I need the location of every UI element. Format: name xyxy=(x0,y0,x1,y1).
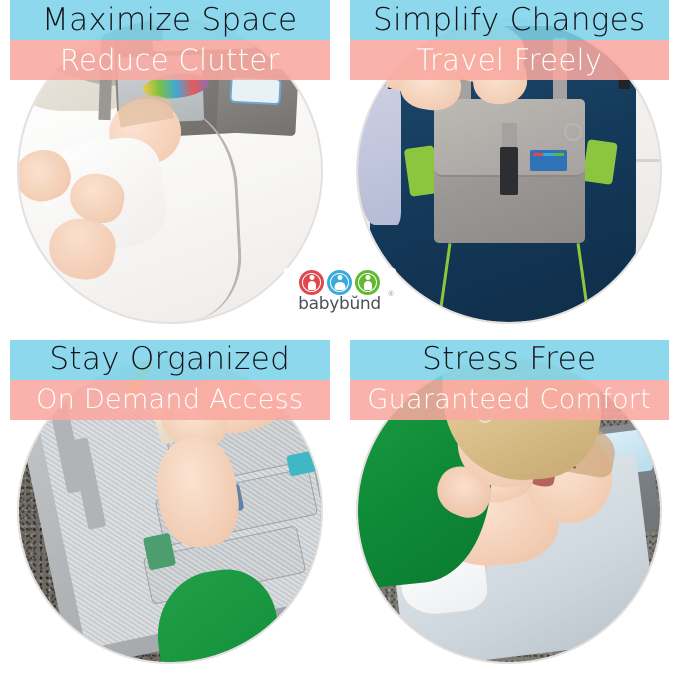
caption-stack-stay-organized: Stay Organized On Demand Access xyxy=(10,340,330,420)
panel-subline: Travel Freely xyxy=(416,46,602,75)
headline-band: Maximize Space xyxy=(10,0,330,40)
subline-band: Reduce Clutter xyxy=(10,40,330,80)
subline-band: Guaranteed Comfort xyxy=(350,380,670,420)
brand-wordmark: babybŭnd xyxy=(298,296,381,313)
panel-headline: Stay Organized xyxy=(49,344,290,375)
caption-stack-maximize-space: Maximize Space Reduce Clutter xyxy=(10,0,330,80)
product-feature-collage: Maximize Space Reduce Clutter xyxy=(0,0,679,679)
brand-logo-marks xyxy=(288,270,392,295)
headline-band: Simplify Changes xyxy=(350,0,670,40)
panel-headline: Simplify Changes xyxy=(373,5,646,36)
logo-mark-blue-icon xyxy=(327,270,352,295)
panel-headline: Maximize Space xyxy=(42,5,297,36)
panel-subline: Reduce Clutter xyxy=(60,46,280,75)
brand-logo: babybŭnd ® xyxy=(284,268,396,315)
headline-band: Stress Free xyxy=(350,340,670,380)
logo-mark-red-icon xyxy=(299,270,324,295)
panel-stress-free: Stress Free Guaranteed Comfort xyxy=(340,340,679,679)
subline-band: Travel Freely xyxy=(350,40,670,80)
panel-subline: Guaranteed Comfort xyxy=(367,386,651,413)
caption-stack-stress-free: Stress Free Guaranteed Comfort xyxy=(350,340,670,420)
subline-band: On Demand Access xyxy=(10,380,330,420)
caption-stack-simplify-changes: Simplify Changes Travel Freely xyxy=(350,0,670,80)
panel-headline: Stress Free xyxy=(422,344,596,375)
registered-trademark-symbol: ® xyxy=(388,291,393,298)
panel-stay-organized: Stay Organized On Demand Access xyxy=(0,340,340,679)
logo-mark-green-icon xyxy=(355,270,380,295)
headline-band: Stay Organized xyxy=(10,340,330,380)
panel-subline: On Demand Access xyxy=(36,386,303,413)
